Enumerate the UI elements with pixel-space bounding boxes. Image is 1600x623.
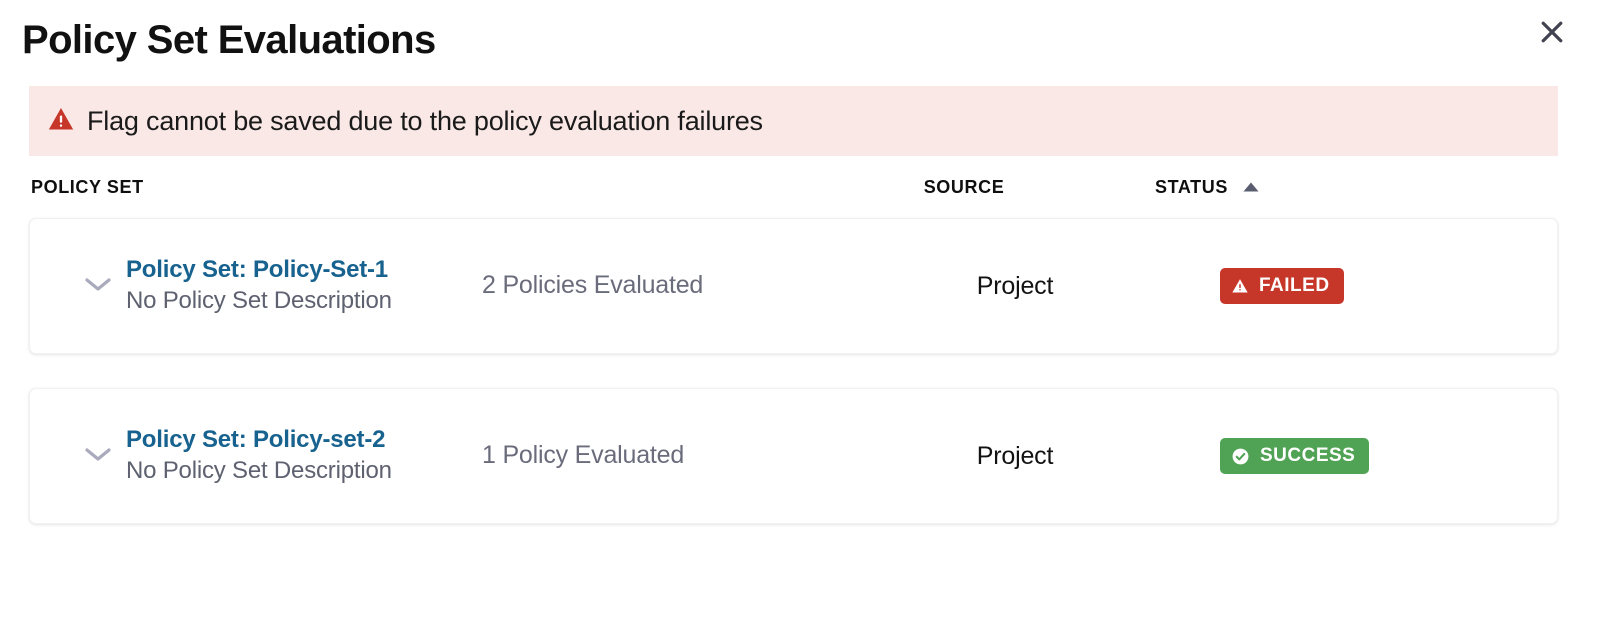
policy-set-info: Policy Set: Policy-Set-1 No Policy Set D…: [126, 254, 456, 318]
error-alert-banner: Flag cannot be saved due to the policy e…: [29, 86, 1558, 156]
warning-triangle-icon: [1231, 277, 1249, 295]
column-header-status-label: STATUS: [1155, 177, 1228, 198]
check-circle-icon: [1231, 447, 1250, 466]
policy-set-table: POLICY SET SOURCE STATUS Policy Set:: [0, 156, 1600, 524]
policy-set-description: No Policy Set Description: [126, 455, 456, 487]
policies-evaluated-count: 2 Policies Evaluated: [456, 271, 703, 300]
warning-triangle-icon: [47, 105, 75, 138]
modal-header: Policy Set Evaluations: [0, 0, 1600, 86]
status-badge-label: FAILED: [1259, 275, 1330, 297]
column-header-policy-set-label: POLICY SET: [31, 177, 144, 198]
policy-set-cell: Policy Set: Policy-set-2 No Policy Set D…: [126, 424, 824, 488]
status-cell: SUCCESS: [1206, 438, 1557, 474]
source-cell: Project: [824, 442, 1206, 471]
sort-ascending-icon: [1242, 177, 1260, 198]
chevron-down-icon: [82, 274, 114, 299]
page-title: Policy Set Evaluations: [22, 18, 1570, 62]
close-button[interactable]: [1532, 12, 1572, 52]
expand-row-toggle[interactable]: [82, 274, 126, 299]
chevron-down-icon: [82, 444, 114, 469]
policy-set-link[interactable]: Policy Set: Policy-Set-1: [126, 254, 456, 285]
status-cell: FAILED: [1206, 268, 1557, 304]
column-header-source[interactable]: SOURCE: [773, 177, 1155, 198]
close-icon: [1537, 17, 1567, 47]
column-header-source-label: SOURCE: [924, 177, 1005, 198]
policies-evaluated-count: 1 Policy Evaluated: [456, 441, 684, 470]
status-badge: SUCCESS: [1220, 438, 1369, 474]
policy-set-link[interactable]: Policy Set: Policy-set-2: [126, 424, 456, 455]
table-row[interactable]: Policy Set: Policy-Set-1 No Policy Set D…: [29, 218, 1558, 354]
policy-set-cell: Policy Set: Policy-Set-1 No Policy Set D…: [126, 254, 824, 318]
column-header-policy-set[interactable]: POLICY SET: [31, 177, 773, 198]
status-badge-label: SUCCESS: [1260, 445, 1355, 467]
policy-set-info: Policy Set: Policy-set-2 No Policy Set D…: [126, 424, 456, 488]
alert-message: Flag cannot be saved due to the policy e…: [87, 105, 763, 137]
policy-set-description: No Policy Set Description: [126, 285, 456, 317]
source-cell: Project: [824, 272, 1206, 301]
table-row[interactable]: Policy Set: Policy-set-2 No Policy Set D…: [29, 388, 1558, 524]
expand-row-toggle[interactable]: [82, 444, 126, 469]
status-badge: FAILED: [1220, 268, 1344, 304]
column-header-status[interactable]: STATUS: [1155, 177, 1558, 198]
table-header-row: POLICY SET SOURCE STATUS: [29, 156, 1558, 218]
